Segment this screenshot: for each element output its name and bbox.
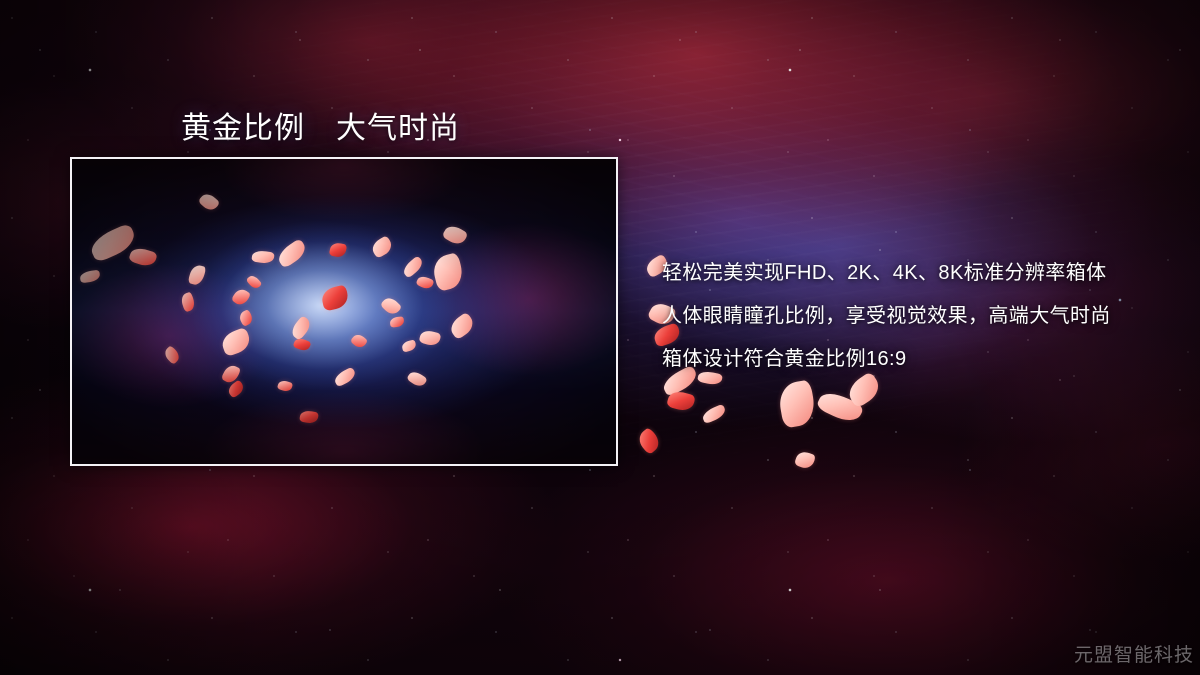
picture-image — [72, 159, 616, 464]
picture-vignette — [72, 159, 616, 464]
picture-frame — [70, 157, 618, 466]
presentation-slide: 黄金比例 大气时尚 — [0, 0, 1200, 675]
watermark-text: 元盟智能科技 — [1074, 640, 1194, 667]
body-line-3: 箱体设计符合黄金比例16:9 — [662, 338, 1182, 381]
body-line-2: 人体眼睛瞳孔比例，享受视觉效果，高端大气时尚 — [662, 295, 1182, 338]
slide-title: 黄金比例 大气时尚 — [181, 103, 460, 147]
body-text-block: 轻松完美实现FHD、2K、4K、8K标准分辨率箱体 人体眼睛瞳孔比例，享受视觉效… — [662, 252, 1182, 381]
body-line-1: 轻松完美实现FHD、2K、4K、8K标准分辨率箱体 — [662, 252, 1182, 295]
